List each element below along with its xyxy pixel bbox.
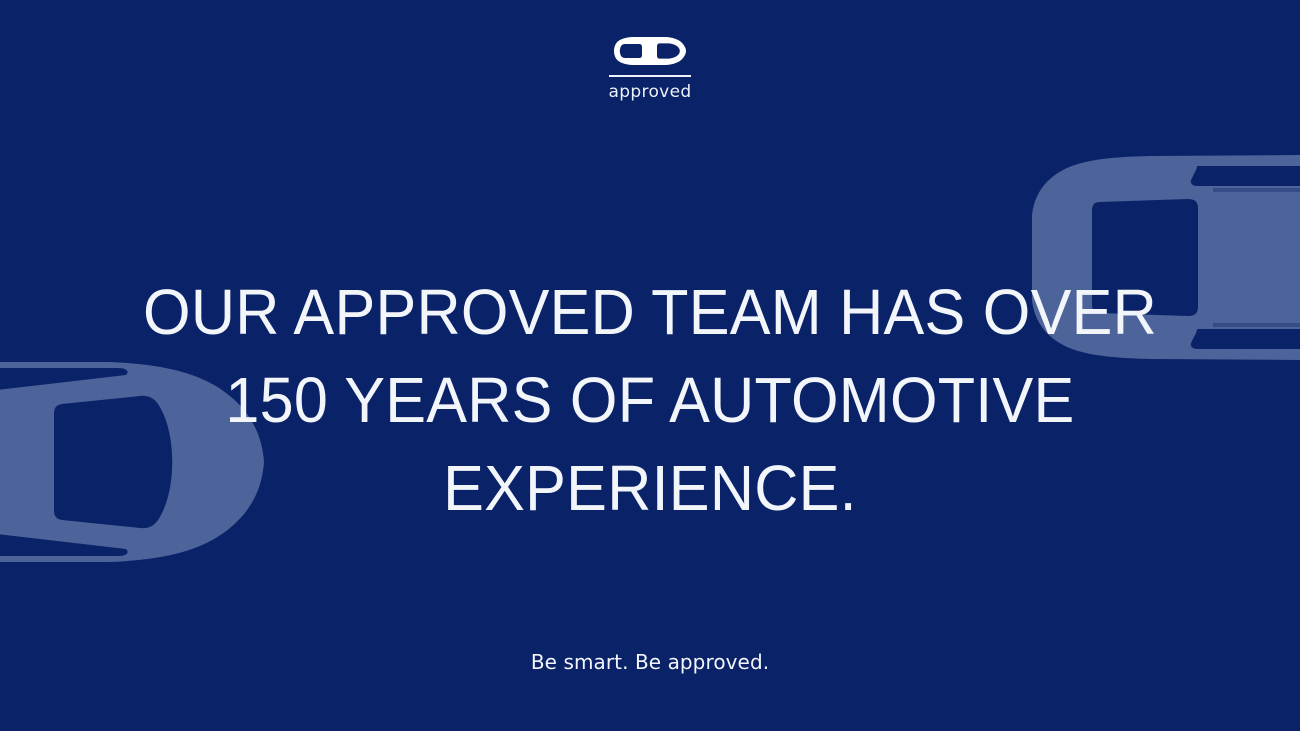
headline-line-1: OUR APPROVED TEAM HAS OVER <box>96 268 1204 356</box>
car-top-view-icon <box>614 36 686 66</box>
brand-wordmark: approved <box>608 84 691 101</box>
brand-divider-rule <box>609 75 691 77</box>
headline: OUR APPROVED TEAM HAS OVER 150 YEARS OF … <box>0 268 1300 532</box>
headline-line-2: 150 YEARS OF AUTOMOTIVE <box>96 356 1204 444</box>
slide-canvas: approved OUR APPROVED TEAM HAS OVER 150 … <box>0 0 1300 731</box>
brand-lockup: approved <box>0 36 1300 101</box>
tagline: Be smart. Be approved. <box>0 652 1300 672</box>
headline-line-3: EXPERIENCE. <box>96 444 1204 532</box>
